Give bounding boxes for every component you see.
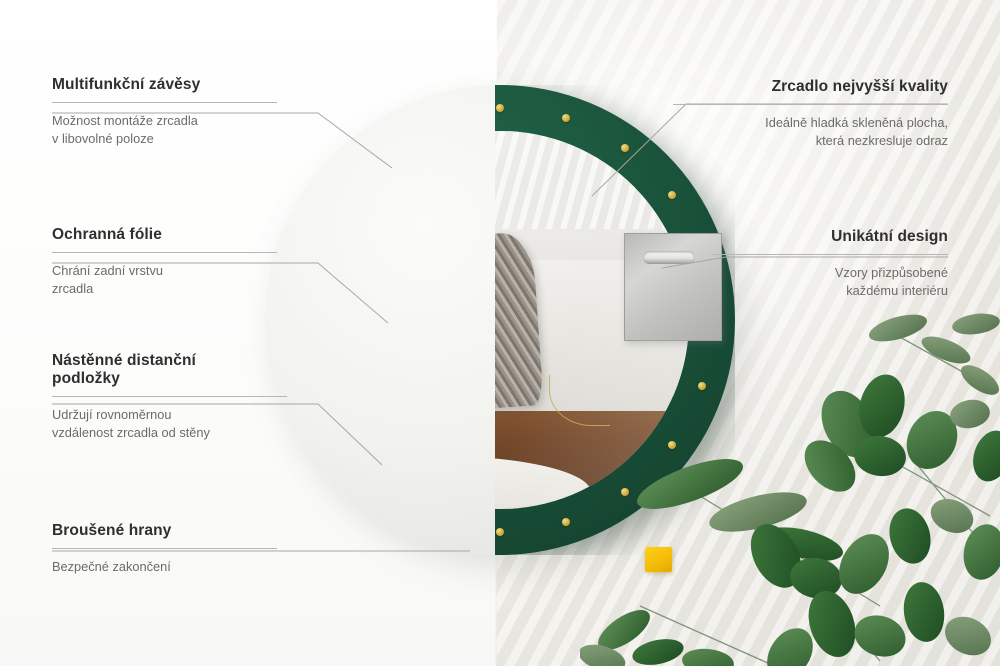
callout-left-1-rule [52,102,277,103]
callout-left-2-body: Chrání zadní vrstvu zrcadla [52,262,277,298]
callout-right-2-body-line2: každému interiéru [846,283,948,298]
frame-stud [668,441,676,449]
callout-left-3-title: Nástěnné distanční podložky [52,352,287,388]
callout-left-3-title-line2: podložky [52,370,120,387]
frame-stud [496,104,504,112]
callout-right-2-body: Vzory přizpůsobené každému interiéru [713,264,948,300]
callout-left-4-body: Bezpečné zakončení [52,558,277,576]
callout-left-2-title: Ochranná fólie [52,226,277,244]
callout-right-1-body: Ideálně hladká skleněná plocha, která ne… [673,114,948,150]
frame-stud [562,114,570,122]
callout-left-1-body-line1: Možnost montáže zrcadla [52,113,198,128]
callout-left-2: Ochranná fólie Chrání zadní vrstvu zrcad… [52,226,277,298]
callout-right-2-rule [713,254,948,255]
callout-left-4-rule [52,548,277,549]
hanging-bracket [624,233,722,341]
frame-stud [562,518,570,526]
callout-left-4-title: Broušené hrany [52,522,277,540]
callout-left-3-rule [52,396,287,397]
product-mirror[interactable] [265,85,735,555]
callout-right-2: Unikátní design Vzory přizpůsobené každé… [713,228,948,300]
callout-right-1-title: Zrcadlo nejvyšší kvality [673,78,948,96]
callout-left-1-body-line2: v libovolné poloze [52,131,154,146]
callout-left-1: Multifunkční závěsy Možnost montáže zrca… [52,76,277,148]
frame-stud [698,382,706,390]
callout-left-3-title-line1: Nástěnné distanční [52,352,196,369]
callout-right-1-rule [673,104,948,105]
frame-stud [496,528,504,536]
callout-left-4: Broušené hrany Bezpečné zakončení [52,522,277,576]
callout-right-1-body-line2: která nezkresluje odraz [816,133,948,148]
callout-left-2-rule [52,252,277,253]
callout-left-4-body-line1: Bezpečné zakončení [52,559,171,574]
frame-stud [621,488,629,496]
spacer-pad [645,547,672,572]
callout-left-3-body: Udržují rovnoměrnou vzdálenost zrcadla o… [52,406,287,442]
callout-right-2-body-line1: Vzory přizpůsobené [835,265,948,280]
callout-left-1-body: Možnost montáže zrcadla v libovolné polo… [52,112,277,148]
callout-left-2-body-line2: zrcadla [52,281,93,296]
callout-right-1: Zrcadlo nejvyšší kvality Ideálně hladká … [673,78,948,150]
callout-left-2-body-line1: Chrání zadní vrstvu [52,263,163,278]
callout-left-1-title: Multifunkční závěsy [52,76,277,94]
callout-left-3: Nástěnné distanční podložky Udržují rovn… [52,352,287,442]
callout-right-1-body-line1: Ideálně hladká skleněná plocha, [765,115,948,130]
frame-stud [668,191,676,199]
callout-left-3-body-line1: Udržují rovnoměrnou [52,407,172,422]
bracket-keyhole-slot [643,251,695,264]
frame-stud [621,144,629,152]
infographic-canvas: Multifunkční závěsy Možnost montáže zrca… [0,0,1000,666]
callout-left-3-body-line2: vzdálenost zrcadla od stěny [52,425,210,440]
callout-right-2-title: Unikátní design [713,228,948,246]
